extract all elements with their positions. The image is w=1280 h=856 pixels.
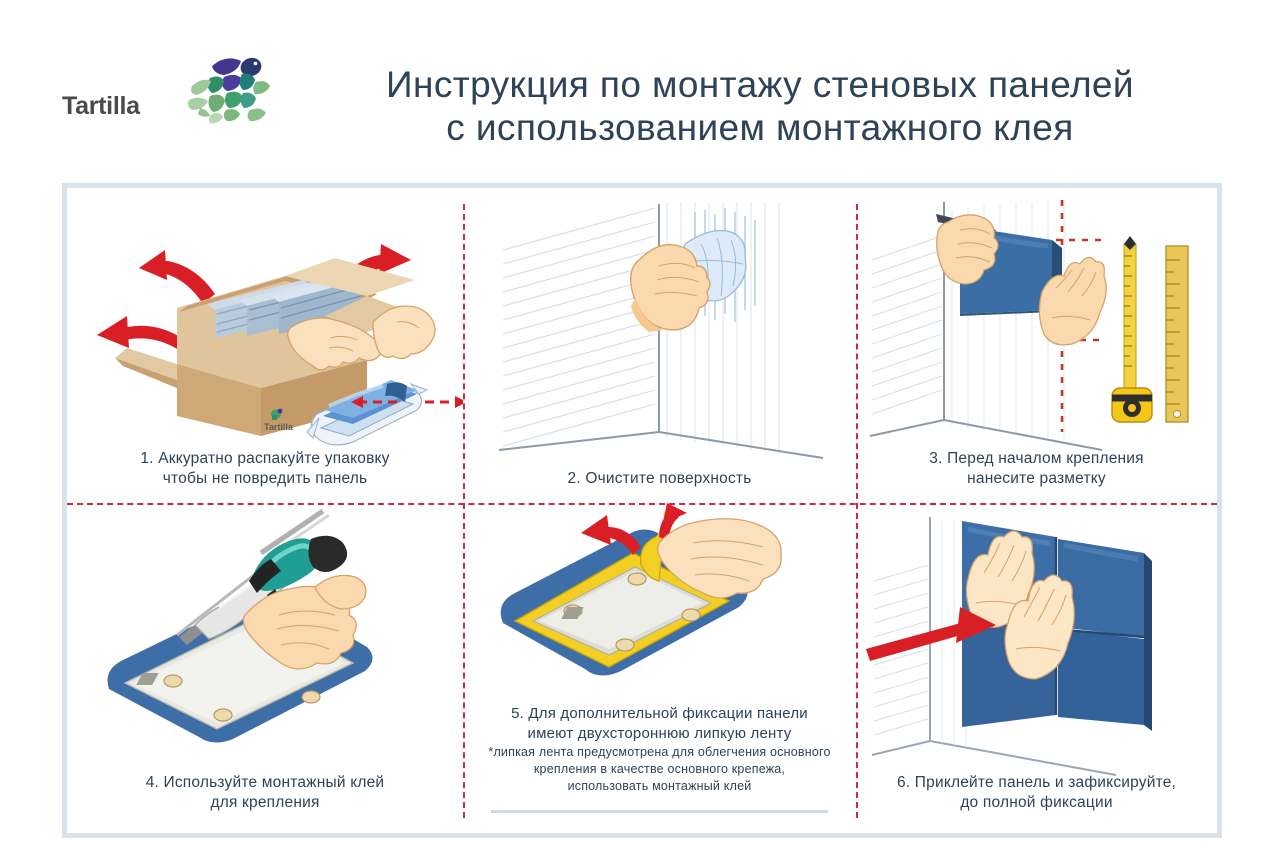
title-line-1: Инструкция по монтажу стеновых панелей (280, 63, 1240, 106)
caption-line: до полной фиксации (864, 793, 1209, 813)
step-caption-3: 3. Перед началом крепления нанесите разм… (864, 449, 1209, 489)
instruction-poster: Tartilla (0, 0, 1280, 856)
caption-underline (491, 810, 828, 813)
svg-text:Tartilla: Tartilla (264, 422, 294, 432)
page-header: Tartilla (0, 0, 1280, 183)
caption-note-line: *липкая лента предусмотрена для облегчен… (471, 744, 848, 761)
step-caption-1: 1. Аккуратно распакуйте упаковку чтобы н… (75, 449, 455, 489)
caption-note-line: крепления в качестве основного крепежа, (471, 761, 848, 778)
step-cell-4: 4. Используйте монтажный клей для крепле… (67, 503, 463, 843)
step-caption-4: 4. Используйте монтажный клей для крепле… (75, 773, 455, 813)
step-cell-2: 2. Очистите поверхность (463, 188, 856, 503)
caption-line: для крепления (75, 793, 455, 813)
step-cell-6: 6. Приклейте панель и зафиксируйте, до п… (856, 503, 1217, 843)
caption-line: 5. Для дополнительной фиксации панели (471, 704, 848, 724)
step-caption-6: 6. Приклейте панель и зафиксируйте, до п… (864, 773, 1209, 813)
step-caption-2: 2. Очистите поверхность (471, 469, 848, 489)
title-line-2: с использованием монтажного клея (280, 106, 1240, 149)
step-caption-5: 5. Для дополнительной фиксации панели им… (471, 704, 848, 795)
brand-wordmark: Tartilla (62, 92, 192, 121)
caption-line: 2. Очистите поверхность (471, 469, 848, 489)
step-cell-3: 3. Перед началом крепления нанесите разм… (856, 188, 1217, 503)
caption-line: 6. Приклейте панель и зафиксируйте, (864, 773, 1209, 793)
step-cell-1: Tartilla (67, 188, 463, 503)
caption-line: нанесите разметку (864, 469, 1209, 489)
steps-frame: Tartilla (62, 183, 1222, 838)
clean-wall-illustration (463, 188, 856, 503)
brand-name: Tartilla (62, 92, 192, 121)
caption-line: 3. Перед началом крепления (864, 449, 1209, 469)
turtle-logo-icon (186, 48, 272, 130)
step-cell-5: 5. Для дополнительной фиксации панели им… (463, 503, 856, 843)
caption-note-line: использовать монтажный клей (471, 778, 848, 795)
caption-line: 1. Аккуратно распакуйте упаковку (75, 449, 455, 469)
caption-line: имеют двухстороннюю липкую ленту (471, 724, 848, 744)
caption-line: чтобы не повредить панель (75, 469, 455, 489)
caption-line: 4. Используйте монтажный клей (75, 773, 455, 793)
page-title: Инструкция по монтажу стеновых панелей с… (280, 63, 1240, 149)
